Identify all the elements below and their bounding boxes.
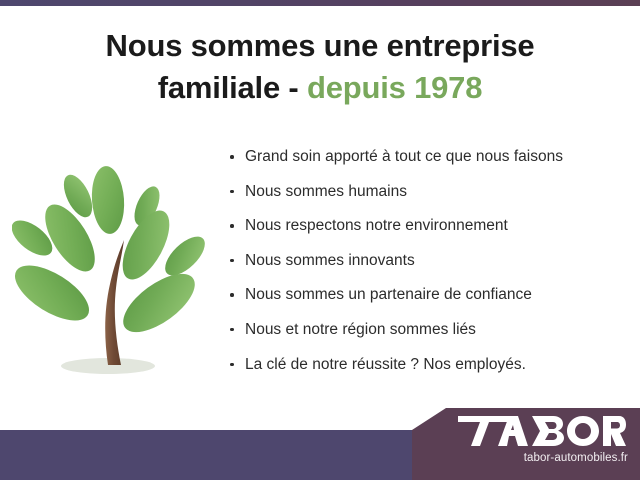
bullet-dot-icon (230, 328, 234, 332)
brand-logo-panel: tabor-automobiles.fr (412, 408, 640, 480)
list-item: Nous et notre région sommes liés (228, 321, 628, 340)
list-item-label: Nous respectons notre environnement (245, 217, 508, 234)
list-item: Grand soin apporté à tout ce que nous fa… (228, 148, 628, 167)
list-item-label: Nous et notre région sommes liés (245, 321, 476, 338)
bullet-dot-icon (230, 190, 234, 194)
list-item: Nous sommes innovants (228, 252, 628, 271)
bullet-dot-icon (230, 155, 234, 159)
list-item: Nous sommes un partenaire de confiance (228, 286, 628, 305)
tree-icon (12, 160, 217, 385)
page-title: Nous sommes une entreprise familiale - d… (0, 26, 640, 107)
list-item: Nous respectons notre environnement (228, 217, 628, 236)
bullet-dot-icon (230, 224, 234, 228)
tabor-logo-icon (458, 416, 626, 446)
brand-website-label: tabor-automobiles.fr (412, 452, 640, 464)
benefits-list: Grand soin apporté à tout ce que nous fa… (228, 148, 628, 374)
bullet-dot-icon (230, 363, 234, 367)
tree-trunk (105, 240, 124, 365)
marketing-slide: Nous sommes une entreprise familiale - d… (0, 0, 640, 480)
top-accent-bar (0, 0, 640, 6)
list-item-label: Nous sommes humains (245, 183, 407, 200)
headline-line-2: familiale - depuis 1978 (0, 68, 640, 108)
list-item-label: La clé de notre réussite ? Nos employés. (245, 356, 526, 373)
bullet-dot-icon (230, 259, 234, 263)
list-item-label: Grand soin apporté à tout ce que nous fa… (245, 148, 563, 165)
list-item-label: Nous sommes innovants (245, 252, 415, 269)
headline-line-2-plain: familiale - (158, 70, 299, 105)
bullet-dot-icon (230, 293, 234, 297)
list-item: Nous sommes humains (228, 183, 628, 202)
list-item-label: Nous sommes un partenaire de confiance (245, 286, 532, 303)
headline-accent-year: depuis 1978 (307, 70, 482, 105)
headline-line-1: Nous sommes une entreprise (106, 28, 535, 63)
list-item: La clé de notre réussite ? Nos employés. (228, 356, 628, 375)
